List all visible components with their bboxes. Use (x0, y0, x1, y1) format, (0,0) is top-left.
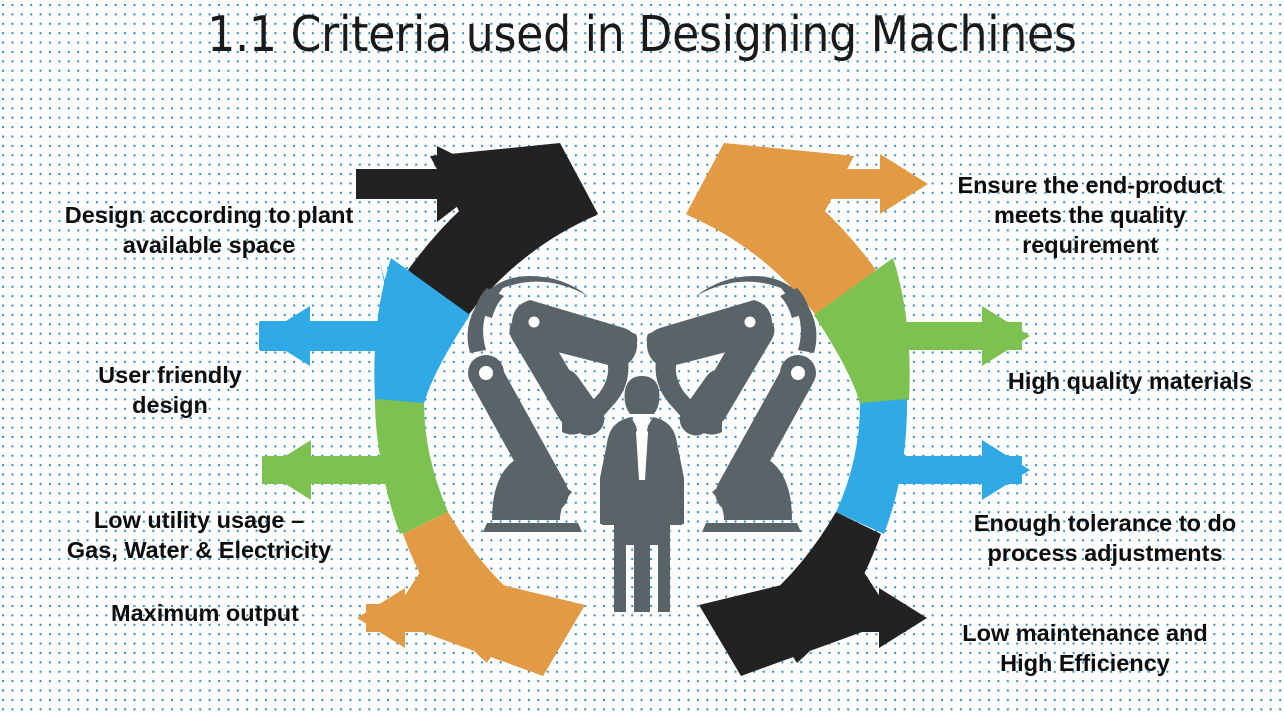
person-head (625, 376, 660, 414)
robot-arms-and-person-icon (468, 276, 817, 612)
seg-left-blue-head (262, 306, 310, 366)
label-low-utility-usage: Low utility usage – Gas, Water & Electri… (34, 505, 364, 565)
person-icon (600, 376, 684, 612)
label-enough-tolerance-to-do-process-adjustments: Enough tolerance to do process adjustmen… (960, 508, 1250, 568)
label-ensure-end-product-meets-quality-requirement: Ensure the end-product meets the quality… (930, 170, 1250, 260)
segment-maximum-output[interactable] (357, 512, 585, 676)
label-low-maintenance-and-high-efficiency: Low maintenance and High Efficiency (940, 618, 1230, 678)
label-high-quality-materials: High quality materials (985, 366, 1275, 396)
right-robot-tube-hole (745, 317, 756, 328)
label-design-according-to-plant-available-space: Design according to plant available spac… (34, 200, 384, 260)
slide-canvas: 1.1 Criteria used in Designing Machines (0, 0, 1284, 715)
seg-right-blue-head (982, 440, 1030, 500)
seg-left-orange-head (357, 588, 405, 648)
right-robot-base-2 (702, 523, 801, 532)
label-maximum-output: Maximum output (70, 598, 340, 628)
seg-left-green-bridge (377, 399, 448, 534)
left-robot-base-2 (483, 523, 582, 532)
segment-low-maintenance[interactable] (699, 512, 927, 676)
center-hub (468, 247, 817, 612)
seg-right-black-head (879, 588, 927, 648)
seg-left-green-head (263, 440, 311, 500)
seg-right-green-head (982, 306, 1030, 366)
label-user-friendly-design: User friendly design (60, 360, 280, 420)
right-robot-lower-joint-hole (791, 366, 805, 380)
left-robot-tube-hole (529, 317, 540, 328)
left-robot-lower-joint-hole (479, 366, 493, 380)
seg-right-orange-head (880, 154, 928, 214)
